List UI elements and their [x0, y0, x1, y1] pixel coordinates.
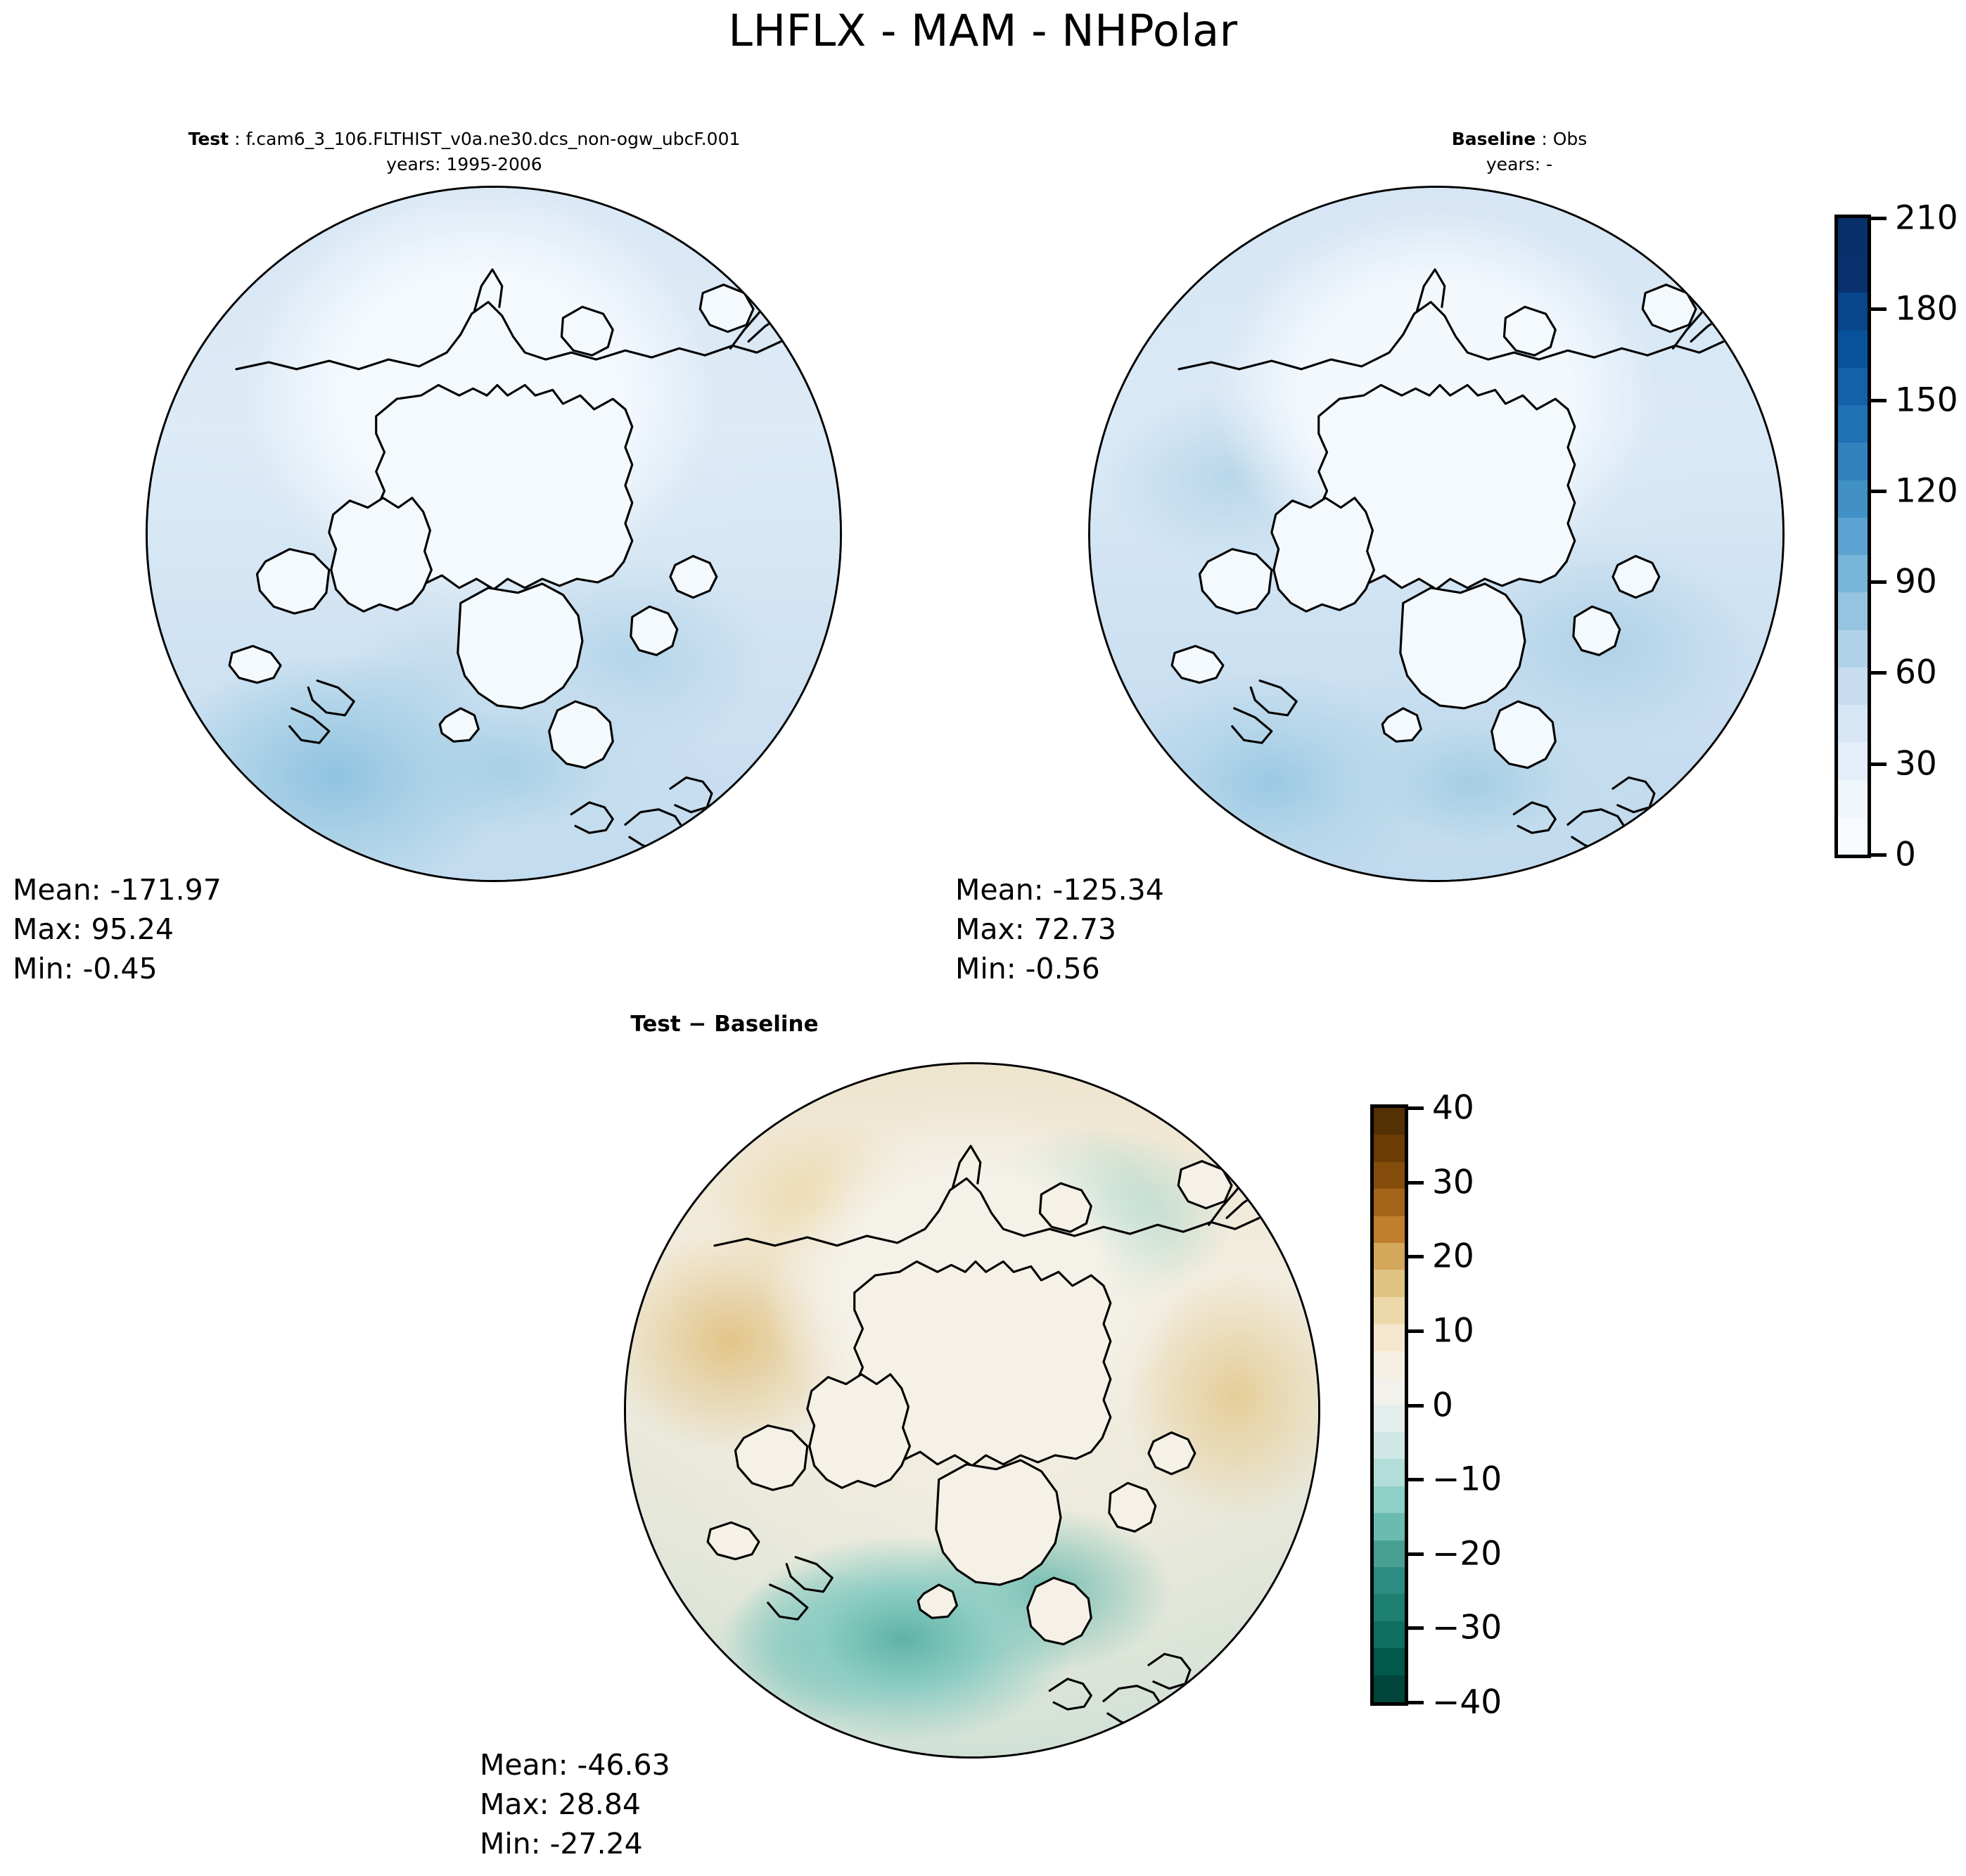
colorbar-tick-label: 120	[1895, 474, 1958, 507]
colorbar-segment	[1374, 1378, 1405, 1405]
colorbar-tick-label: −20	[1432, 1537, 1502, 1570]
colorbar-segment	[1374, 1513, 1405, 1540]
difference-coastlines	[626, 1064, 1318, 1756]
colorbar-segment	[1838, 331, 1868, 368]
colorbar-tick	[1870, 217, 1887, 220]
colorbar-segment	[1374, 1648, 1405, 1675]
baseline-globe	[1088, 186, 1785, 882]
colorbar-segment	[1374, 1270, 1405, 1296]
colorbar-segment	[1838, 442, 1868, 480]
difference-stat-mean: Mean: -46.63	[480, 1746, 670, 1785]
colorbar-segment	[1838, 405, 1868, 442]
colorbar-tick	[1407, 1329, 1424, 1333]
difference-stat-min: Min: -27.24	[480, 1825, 670, 1864]
colorbar-tick	[1407, 1404, 1424, 1408]
colorbar-tick-label: 60	[1895, 656, 1937, 689]
colorbar-tick-label: −10	[1432, 1463, 1502, 1496]
colorbar-tick-label: 150	[1895, 383, 1958, 416]
colorbar-segment	[1374, 1405, 1405, 1431]
colorbar-tick	[1870, 490, 1887, 493]
colorbar-segment	[1374, 1486, 1405, 1513]
colorbar-segment	[1838, 255, 1868, 293]
colorbar-tick	[1407, 1701, 1424, 1704]
colorbar-tick-label: 20	[1432, 1240, 1474, 1273]
colorbar-segment	[1374, 1324, 1405, 1351]
colorbar-tick	[1870, 853, 1887, 857]
colorbar-segment	[1374, 1189, 1405, 1215]
test-stats: Mean: -171.97 Max: 95.24 Min: -0.45	[13, 871, 222, 988]
colorbar-segment	[1838, 592, 1868, 630]
difference-stat-max: Max: 28.84	[480, 1785, 670, 1825]
test-map-panel: Mean: -171.97 Max: 95.24 Min: -0.45	[0, 0, 943, 985]
colorbar-tick	[1870, 580, 1887, 584]
colorbar-segment	[1838, 555, 1868, 592]
colorbar-segment	[1838, 293, 1868, 330]
difference-map-panel: Mean: -46.63 Max: 28.84 Min: -27.24	[450, 985, 1393, 1876]
colorbar-segment	[1374, 1540, 1405, 1567]
colorbar-segment	[1374, 1676, 1405, 1702]
colorbar-tick-label: 0	[1432, 1389, 1453, 1422]
colorbar-segment	[1374, 1243, 1405, 1270]
colorbar-segment	[1374, 1216, 1405, 1243]
baseline-stat-mean: Mean: -125.34	[955, 871, 1164, 910]
colorbar-segment	[1374, 1108, 1405, 1135]
difference-colorbar-wrap: −40−30−20−10010203040	[1370, 1104, 1511, 1706]
colorbar-segment	[1838, 630, 1868, 668]
baseline-stat-max: Max: 72.73	[955, 910, 1164, 950]
colorbar-tick-label: 90	[1895, 566, 1937, 599]
colorbar-segment	[1838, 480, 1868, 518]
colorbar-tick	[1870, 762, 1887, 766]
baseline-coastlines	[1090, 188, 1782, 880]
colorbar-segment	[1838, 817, 1868, 855]
difference-colorbar-strip[interactable]	[1370, 1104, 1408, 1706]
colorbar-tick	[1407, 1478, 1424, 1481]
colorbar-tick	[1870, 399, 1887, 402]
colorbar-segment	[1838, 780, 1868, 817]
colorbar-tick	[1407, 1181, 1424, 1185]
colorbar-tick-label: 10	[1432, 1314, 1474, 1347]
difference-stats: Mean: -46.63 Max: 28.84 Min: -27.24	[480, 1746, 670, 1863]
colorbar-tick	[1870, 671, 1887, 675]
colorbar-segment	[1838, 705, 1868, 742]
test-coastlines	[148, 188, 840, 880]
colorbar-tick-label: 0	[1895, 838, 1916, 872]
colorbar-segment	[1838, 742, 1868, 779]
colorbar-segment	[1374, 1594, 1405, 1621]
colorbar-tick-label: 30	[1895, 747, 1937, 780]
difference-globe	[624, 1062, 1320, 1759]
test-globe	[146, 186, 842, 882]
colorbar-tick-label: −30	[1432, 1612, 1502, 1645]
colorbar-tick	[1407, 1552, 1424, 1556]
baseline-map-panel: Mean: -125.34 Max: 72.73 Min: -0.56	[943, 0, 1885, 985]
colorbar-tick	[1407, 1255, 1424, 1258]
test-stat-min: Min: -0.45	[13, 950, 222, 989]
colorbar-segment	[1374, 1567, 1405, 1594]
colorbar-segment	[1838, 218, 1868, 255]
colorbar-segment	[1374, 1621, 1405, 1648]
colorbar-tick-label: 40	[1432, 1092, 1474, 1125]
colorbar-tick-label: 180	[1895, 293, 1958, 326]
colorbar-tick-label: 210	[1895, 202, 1958, 235]
test-stat-max: Max: 95.24	[13, 910, 222, 950]
colorbar-segment	[1374, 1297, 1405, 1324]
colorbar-segment	[1374, 1351, 1405, 1378]
baseline-stat-min: Min: -0.56	[955, 950, 1164, 989]
baseline-stats: Mean: -125.34 Max: 72.73 Min: -0.56	[955, 871, 1164, 988]
colorbar-segment	[1374, 1459, 1405, 1486]
test-stat-mean: Mean: -171.97	[13, 871, 222, 910]
colorbar-segment	[1374, 1135, 1405, 1161]
colorbar-segment	[1838, 518, 1868, 555]
colorbar-tick	[1407, 1106, 1424, 1110]
main-colorbar-wrap: 0306090120150180210	[1834, 215, 1966, 858]
colorbar-tick-label: −40	[1432, 1686, 1502, 1719]
colorbar-tick	[1407, 1626, 1424, 1630]
colorbar-segment	[1838, 368, 1868, 405]
colorbar-tick-label: 30	[1432, 1166, 1474, 1199]
main-colorbar-strip[interactable]	[1834, 215, 1871, 858]
colorbar-segment	[1838, 668, 1868, 705]
colorbar-segment	[1374, 1162, 1405, 1189]
colorbar-tick	[1870, 307, 1887, 311]
colorbar-segment	[1374, 1432, 1405, 1459]
